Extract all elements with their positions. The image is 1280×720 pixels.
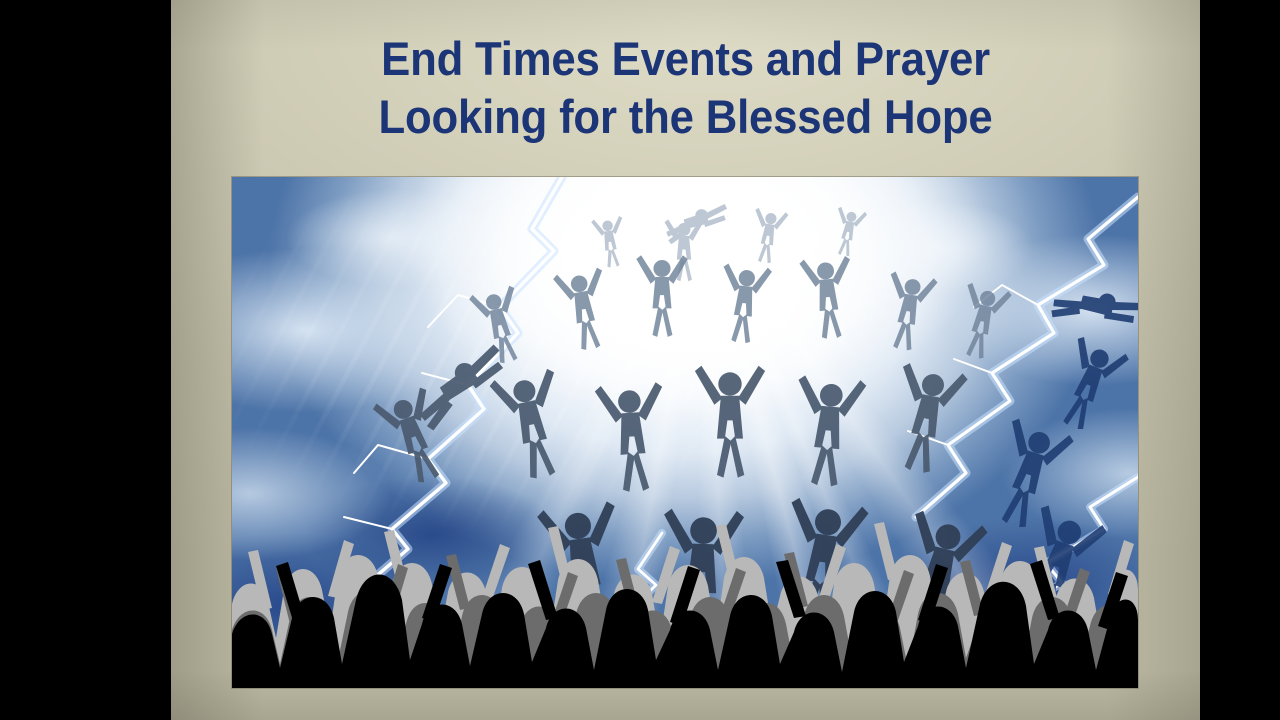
slide-viewer: End Times Events and Prayer Looking for …	[0, 0, 1280, 720]
letterbox-bar-left	[0, 0, 171, 720]
title-line-2: Looking for the Blessed Hope	[207, 88, 1164, 146]
title-line-1: End Times Events and Prayer	[207, 30, 1164, 88]
slide-canvas: End Times Events and Prayer Looking for …	[171, 0, 1200, 720]
rapture-illustration-image	[232, 177, 1138, 688]
letterbox-bar-right	[1200, 0, 1280, 720]
crowd-silhouette-dark	[232, 560, 1138, 688]
page-title: End Times Events and Prayer Looking for …	[171, 30, 1200, 146]
